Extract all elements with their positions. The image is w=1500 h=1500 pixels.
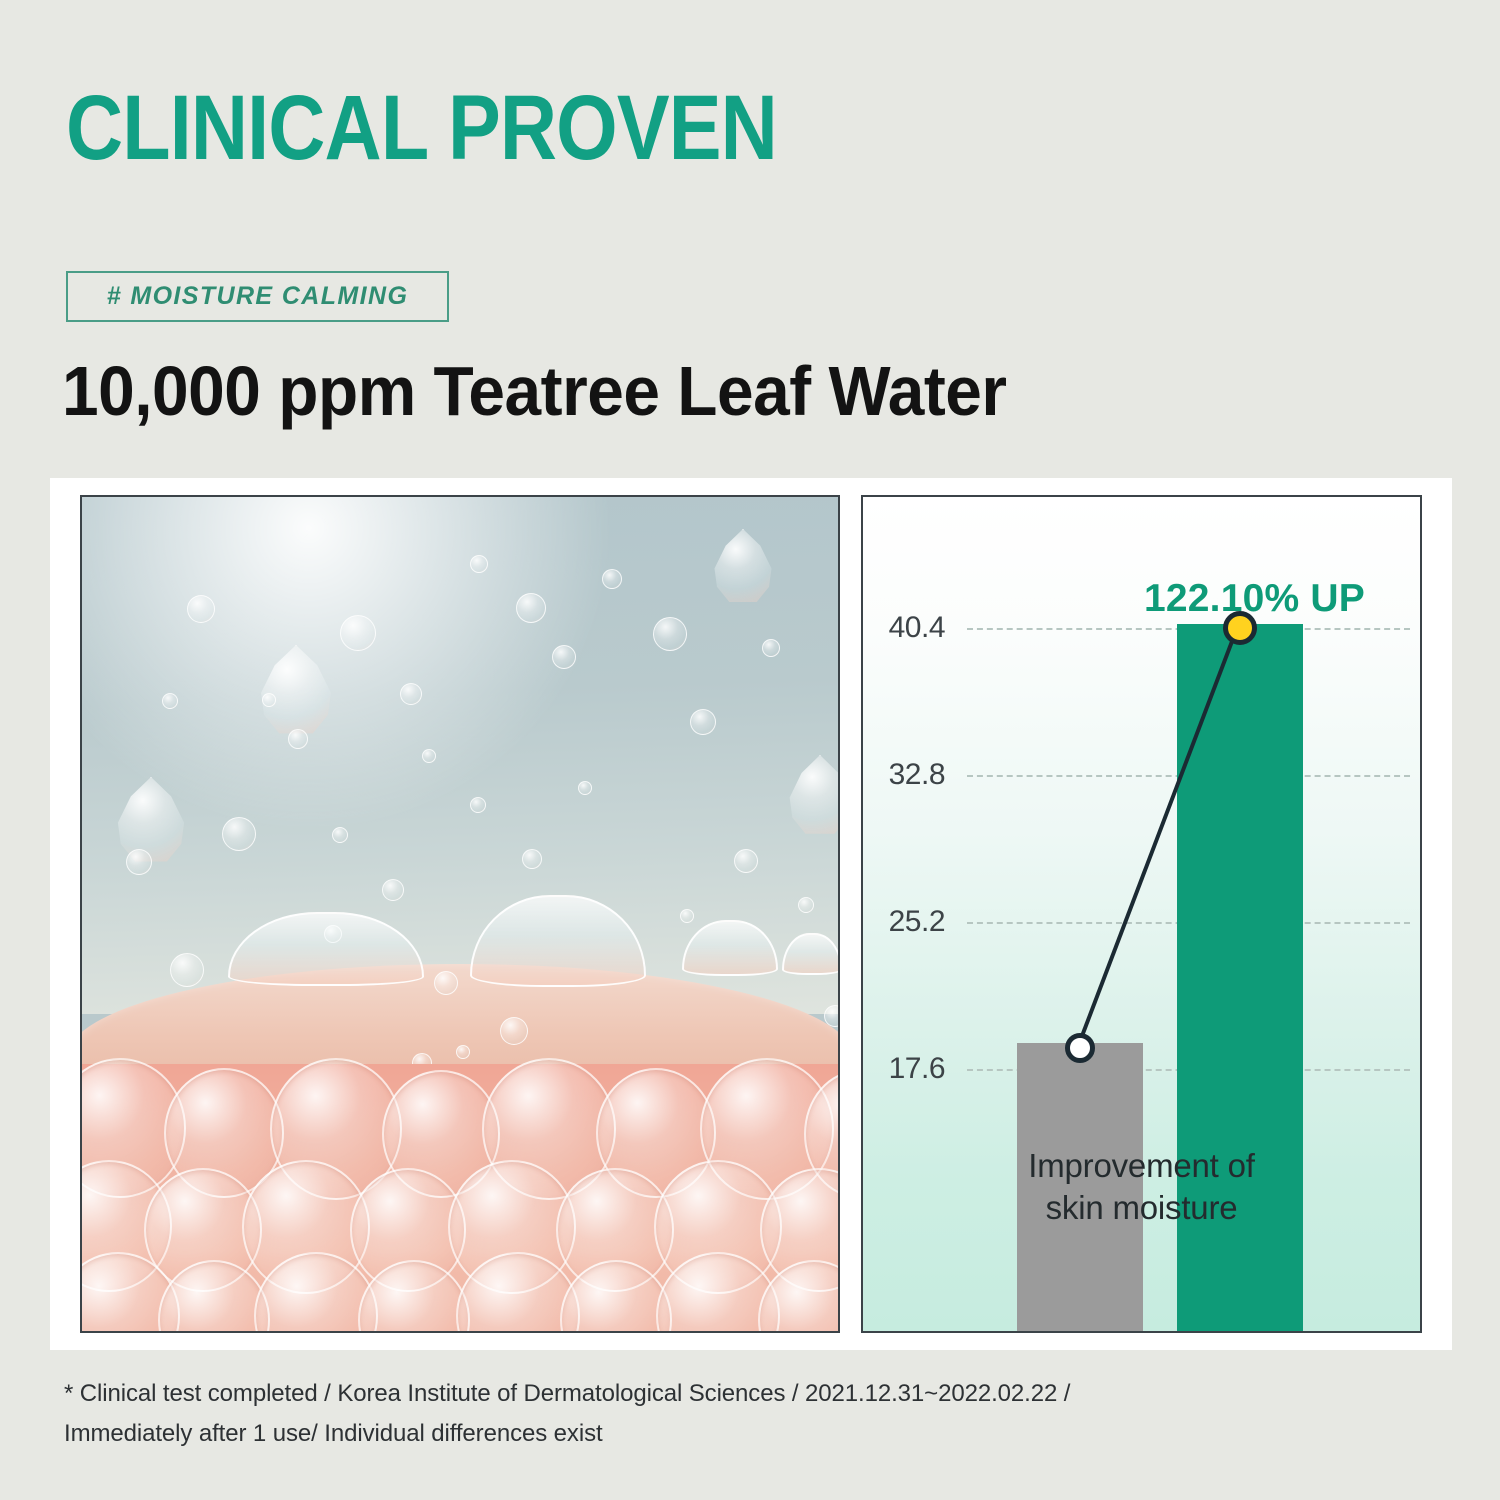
skin-cell-layer: [82, 1064, 838, 1331]
footnote-line-1: * Clinical test completed / Korea Instit…: [64, 1374, 1164, 1414]
infographic-page: CLINICAL PROVEN # MOISTURE CALMING 10,00…: [0, 0, 1500, 1500]
content-frame: 40.4 32.8 25.2 17.6 122.10% UP Improveme…: [50, 478, 1452, 1350]
ytick-label-3: 17.6: [889, 1052, 945, 1086]
footnote-line-2: Immediately after 1 use/ Individual diff…: [64, 1414, 1164, 1454]
chart-caption-line1: Improvement of: [863, 1145, 1420, 1187]
uplift-annotation: 122.10% UP: [1144, 577, 1365, 621]
ytick-label-1: 32.8: [889, 758, 945, 792]
page-subtitle: 10,000 ppm Teatree Leaf Water: [62, 355, 1007, 427]
chart-caption-line2: skin moisture: [863, 1187, 1420, 1229]
skin-hydration-photo: [80, 495, 840, 1333]
clinical-result-chart: 40.4 32.8 25.2 17.6 122.10% UP Improveme…: [861, 495, 1422, 1333]
badge-label: # MOISTURE CALMING: [107, 282, 409, 311]
marker-before: [1065, 1033, 1095, 1063]
footnote: * Clinical test completed / Korea Instit…: [64, 1374, 1164, 1454]
moisture-calming-badge: # MOISTURE CALMING: [66, 271, 449, 322]
ytick-label-2: 25.2: [889, 905, 945, 939]
page-title: CLINICAL PROVEN: [66, 82, 777, 174]
ytick-label-0: 40.4: [889, 611, 945, 645]
